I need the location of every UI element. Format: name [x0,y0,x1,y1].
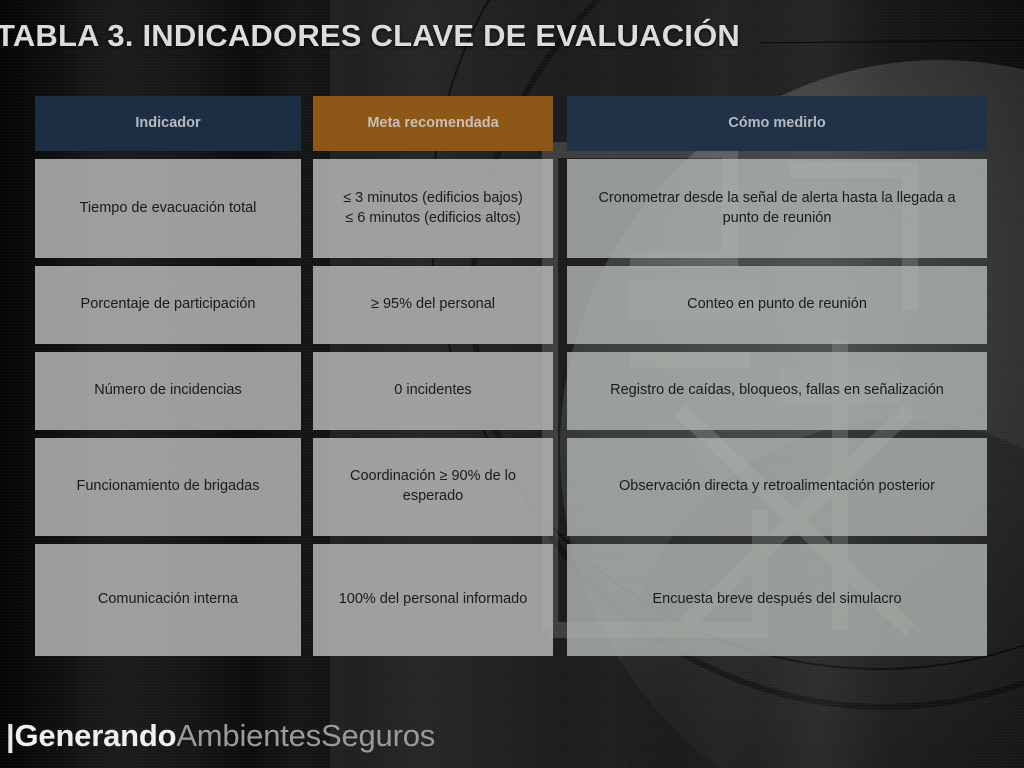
page-title: TABLA 3. INDICADORES CLAVE DE EVALUACIÓN [0,18,1006,54]
header-label-como-medirlo: Cómo medirlo [728,114,825,134]
cell-text-wrap: ≤ 3 minutos (edificios bajos) ≤ 6 minuto… [343,189,523,228]
table-row: Número de incidencias 0 incidentes Regis… [35,352,989,430]
table-row: Comunicación interna 100% del personal i… [35,544,989,656]
brand-logo-bold: Generando [14,718,176,753]
cell-text-line: Cronometrar desde la señal de alerta has… [598,189,955,209]
header-cell-como-medirlo: Cómo medirlo [567,96,987,151]
brand-logo: |GenerandoAmbientesSeguros [6,718,435,754]
cell-text: 0 incidentes [394,381,471,401]
header-label-indicador: Indicador [135,114,200,134]
cell-text-line: Coordinación ≥ 90% de lo [350,467,516,487]
header-cell-indicador: Indicador [35,96,301,151]
cell-como-medirlo: Observación directa y retroalimentación … [567,438,987,536]
cell-como-medirlo: Registro de caídas, bloqueos, fallas en … [567,352,987,430]
cell-meta: ≥ 95% del personal [313,266,553,344]
cell-text: Observación directa y retroalimentación … [619,477,935,497]
cell-text: 100% del personal informado [339,590,528,610]
cell-meta: 0 incidentes [313,352,553,430]
table-row: Porcentaje de participación ≥ 95% del pe… [35,266,989,344]
cell-meta: ≤ 3 minutos (edificios bajos) ≤ 6 minuto… [313,159,553,258]
cell-como-medirlo: Conteo en punto de reunión [567,266,987,344]
cell-text-line: ≤ 6 minutos (edificios altos) [343,209,523,229]
cell-text: Número de incidencias [94,381,242,401]
indicators-table: Indicador Meta recomendada Cómo medirlo … [35,96,989,656]
cell-text: ≥ 95% del personal [371,295,495,315]
cell-text: Tiempo de evacuación total [80,199,257,219]
cell-text: Conteo en punto de reunión [687,295,867,315]
cell-indicador: Funcionamiento de brigadas [35,438,301,536]
cell-meta: 100% del personal informado [313,544,553,656]
cell-text: Encuesta breve después del simulacro [652,590,901,610]
cell-text-wrap: Cronometrar desde la señal de alerta has… [598,189,955,228]
table-row: Funcionamiento de brigadas Coordinación … [35,438,989,536]
table-header-row: Indicador Meta recomendada Cómo medirlo [35,96,989,151]
cell-text-line: esperado [350,487,516,507]
cell-text: Comunicación interna [98,590,238,610]
cell-indicador: Porcentaje de participación [35,266,301,344]
cell-indicador: Tiempo de evacuación total [35,159,301,258]
cell-text-wrap: Coordinación ≥ 90% de lo esperado [350,467,516,506]
cell-meta: Coordinación ≥ 90% de lo esperado [313,438,553,536]
cell-indicador: Comunicación interna [35,544,301,656]
cell-como-medirlo: Encuesta breve después del simulacro [567,544,987,656]
cell-indicador: Número de incidencias [35,352,301,430]
header-label-meta: Meta recomendada [367,114,498,134]
slide-canvas: TABLA 3. INDICADORES CLAVE DE EVALUACIÓN… [0,0,1024,768]
cell-como-medirlo: Cronometrar desde la señal de alerta has… [567,159,987,258]
table-row: Tiempo de evacuación total ≤ 3 minutos (… [35,159,989,258]
header-cell-meta: Meta recomendada [313,96,553,151]
cell-text-line: punto de reunión [598,209,955,229]
cell-text: Registro de caídas, bloqueos, fallas en … [610,381,944,401]
cell-text-line: ≤ 3 minutos (edificios bajos) [343,189,523,209]
cell-text: Funcionamiento de brigadas [77,477,260,497]
brand-logo-light: AmbientesSeguros [176,718,435,753]
cell-text: Porcentaje de participación [81,295,256,315]
